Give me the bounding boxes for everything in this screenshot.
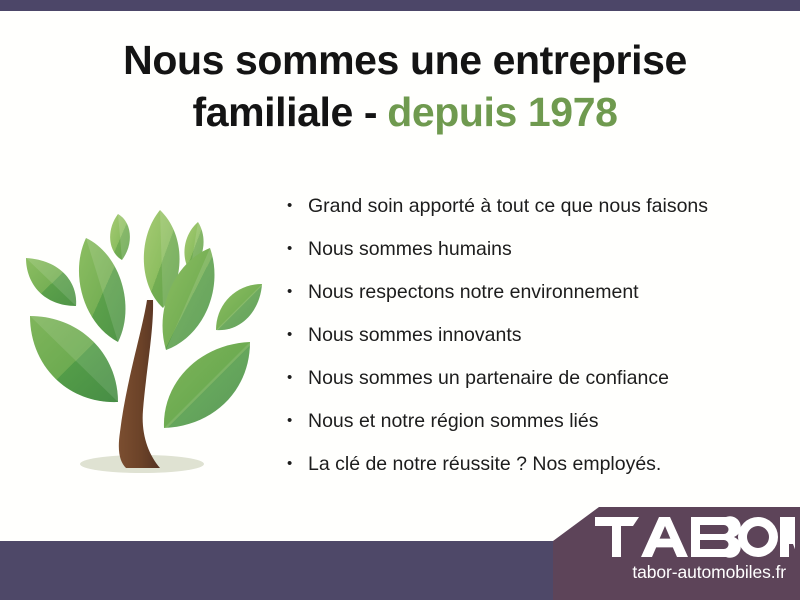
brand-logo-panel: tabor-automobiles.fr bbox=[553, 507, 800, 600]
list-item: Nous sommes humains bbox=[286, 235, 708, 278]
list-item: Grand soin apporté à tout ce que nous fa… bbox=[286, 192, 708, 235]
list-item: Nous respectons notre environnement bbox=[286, 278, 708, 321]
list-item: Nous sommes un partenaire de confiance bbox=[286, 364, 708, 407]
page-title: Nous sommes une entreprise familiale -de… bbox=[60, 34, 750, 138]
leaf-lower-right bbox=[164, 342, 250, 428]
list-item: Nous et notre région sommes liés bbox=[286, 407, 708, 450]
tabor-wordmark-logo bbox=[595, 515, 795, 559]
leaf-right-small bbox=[216, 284, 262, 330]
title-line-2: familiale -depuis 1978 bbox=[60, 86, 750, 138]
slide-root: Nous sommes une entreprise familiale -de… bbox=[0, 0, 800, 600]
tree-trunk bbox=[119, 300, 160, 468]
tree-illustration bbox=[14, 196, 272, 480]
list-item: Nous sommes innovants bbox=[286, 321, 708, 364]
leaf-top-left-small bbox=[110, 214, 130, 260]
title-highlight: depuis 1978 bbox=[387, 89, 617, 135]
title-line-2-plain: familiale - bbox=[192, 89, 377, 135]
list-item: La clé de notre réussite ? Nos employés. bbox=[286, 450, 708, 493]
logo-tagline: tabor-automobiles.fr bbox=[553, 562, 800, 583]
title-line-1: Nous sommes une entreprise bbox=[60, 34, 750, 86]
benefits-list: Grand soin apporté à tout ce que nous fa… bbox=[286, 192, 708, 493]
leaf-left-small bbox=[26, 258, 76, 306]
top-accent-bar bbox=[0, 0, 800, 11]
